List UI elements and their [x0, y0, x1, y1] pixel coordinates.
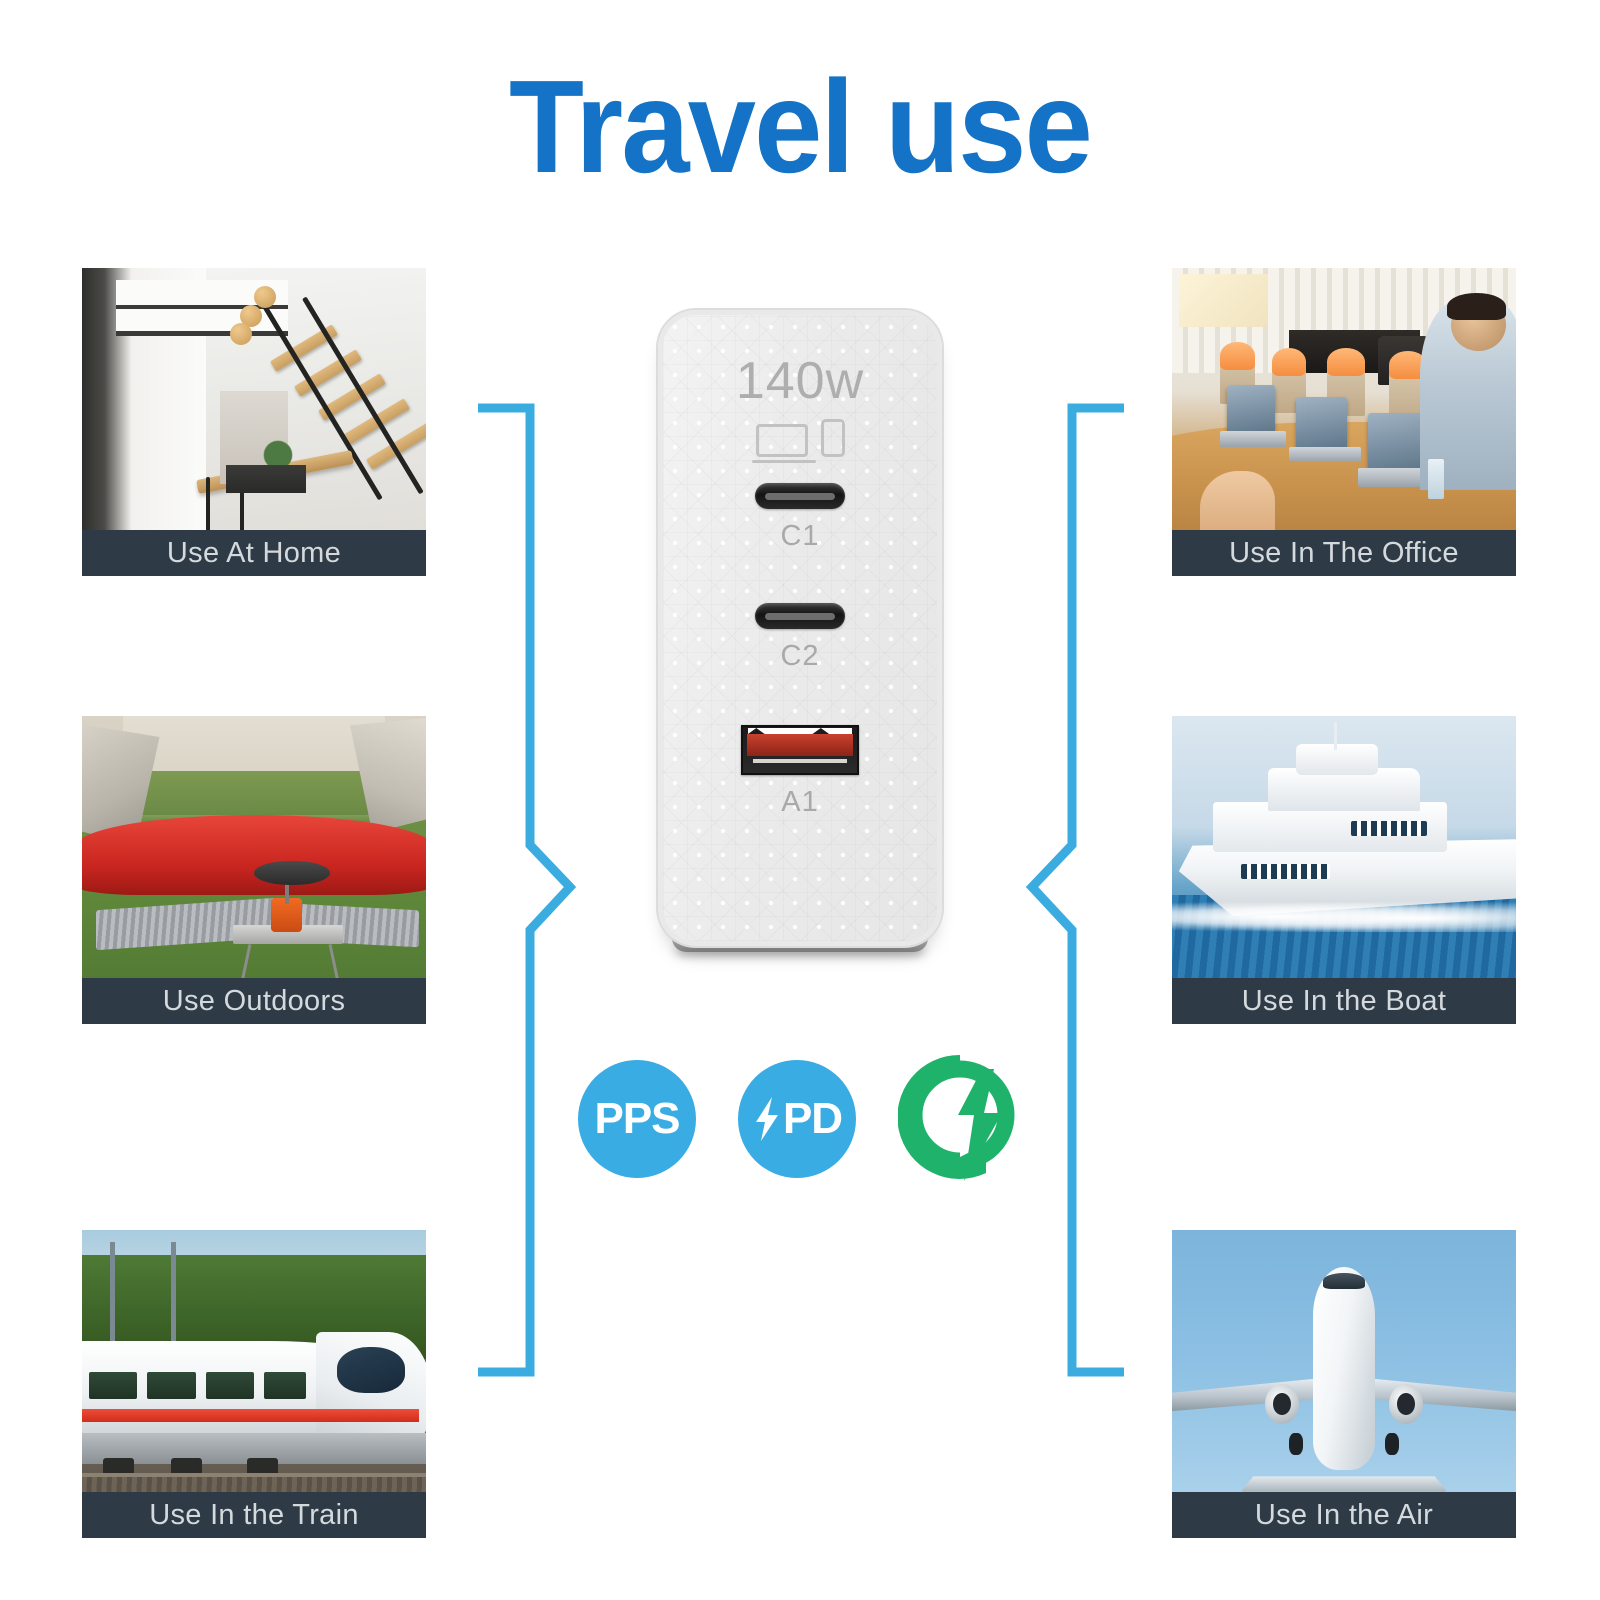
charger-device: 140w C1 C2 A1	[658, 310, 942, 946]
wattage-label: 140w	[663, 351, 937, 411]
usb-c-port-icon	[755, 603, 845, 629]
card-caption: Use At Home	[82, 530, 426, 576]
badge-pd: PD	[738, 1060, 856, 1178]
port-a1[interactable]: A1	[663, 725, 937, 819]
badge-pd-label: PD	[783, 1094, 842, 1144]
page-title: Travel use	[56, 58, 1544, 197]
port-c2[interactable]: C2	[663, 603, 937, 673]
card-caption: Use In the Train	[82, 1492, 426, 1538]
card-caption: Use In the Boat	[1172, 978, 1516, 1024]
card-use-in-the-train[interactable]: Use In the Train	[82, 1230, 426, 1538]
usb-a-port-icon	[741, 725, 859, 775]
port-c1[interactable]: C1	[663, 483, 937, 553]
badge-pps: PPS	[578, 1060, 696, 1178]
laptop-icon	[756, 424, 808, 457]
device-compat-icons	[663, 419, 937, 457]
card-use-outdoors[interactable]: Use Outdoors	[82, 716, 426, 1024]
card-caption: Use In the Air	[1172, 1492, 1516, 1538]
port-a1-label: A1	[663, 786, 937, 819]
feature-badges: PPS PD	[560, 1044, 1040, 1194]
port-c1-label: C1	[663, 520, 937, 553]
card-caption: Use Outdoors	[82, 978, 426, 1024]
card-use-at-home[interactable]: Use At Home	[82, 268, 426, 576]
card-use-in-the-boat[interactable]: Use In the Boat	[1172, 716, 1516, 1024]
port-c2-label: C2	[663, 640, 937, 673]
badge-pps-label: PPS	[594, 1094, 679, 1144]
phone-icon	[821, 419, 845, 457]
usb-c-port-icon	[755, 483, 845, 509]
badge-quick-charge	[898, 1053, 1022, 1185]
right-bracket	[1022, 400, 1132, 1380]
lightning-bolt-icon	[752, 1095, 782, 1143]
left-bracket	[470, 400, 580, 1380]
card-caption: Use In The Office	[1172, 530, 1516, 576]
card-use-in-the-air[interactable]: Use In the Air	[1172, 1230, 1516, 1538]
quick-charge-icon	[898, 1053, 1022, 1185]
card-use-in-the-office[interactable]: Use In The Office	[1172, 268, 1516, 576]
